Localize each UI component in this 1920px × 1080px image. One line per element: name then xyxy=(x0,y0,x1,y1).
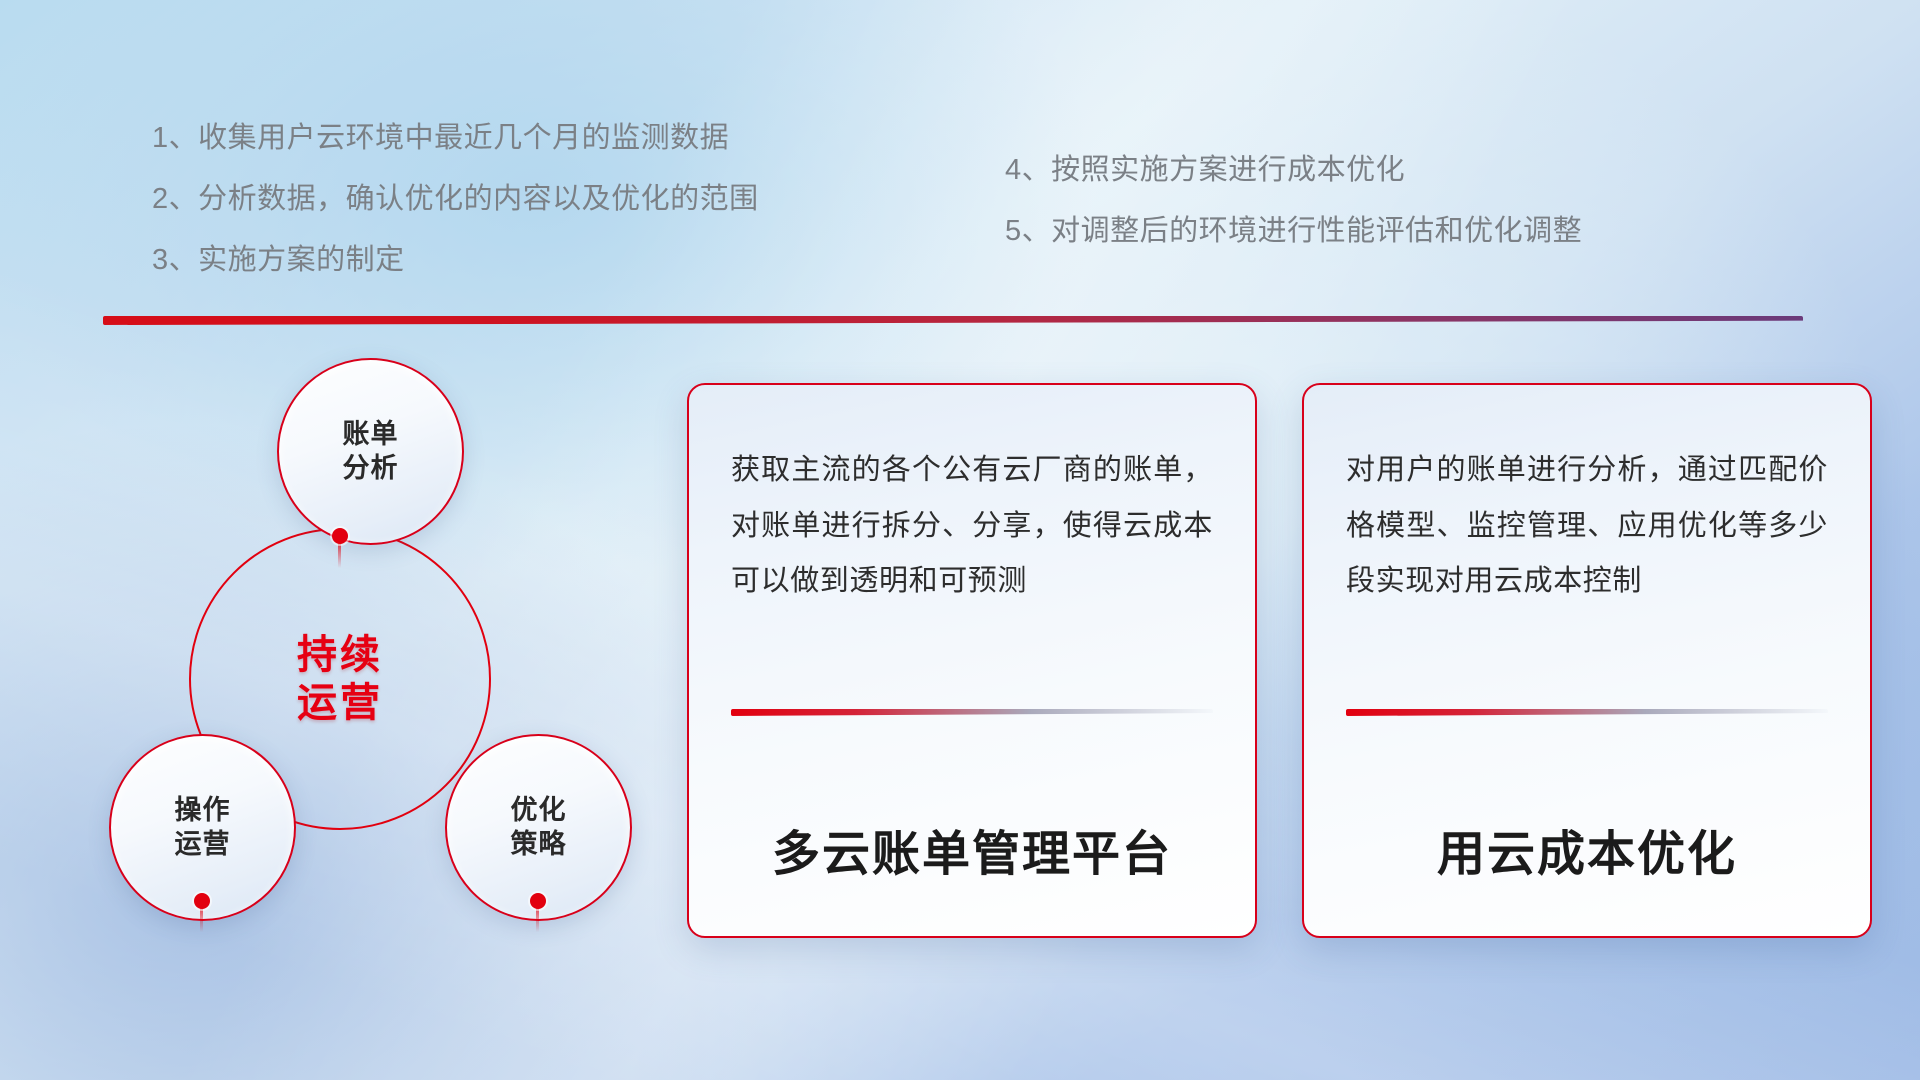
node-tail-right xyxy=(536,906,539,932)
venn-node-top-line2: 分析 xyxy=(343,453,399,483)
card-1-title: 多云账单管理平台 xyxy=(731,814,1213,884)
card-2-rule xyxy=(1346,709,1828,716)
step-item-4: 4、按照实施方案进行成本优化 xyxy=(1005,156,1582,185)
section-divider xyxy=(103,316,1803,325)
venn-node-right-line2: 策略 xyxy=(511,829,567,859)
divider-bar xyxy=(103,316,1803,325)
node-dot-left xyxy=(194,893,210,909)
node-tail-top xyxy=(338,542,341,568)
steps-section: 1、收集用户云环境中最近几个月的监测数据 2、分析数据，确认优化的内容以及优化的… xyxy=(0,108,1920,308)
step-item-1: 1、收集用户云环境中最近几个月的监测数据 xyxy=(152,124,759,153)
step-item-5: 5、对调整后的环境进行性能评估和优化调整 xyxy=(1005,217,1582,246)
venn-node-billing-analysis[interactable]: 账单 分析 xyxy=(277,358,464,545)
center-label-line1: 持续 xyxy=(297,633,383,677)
steps-right-column: 4、按照实施方案进行成本优化 5、对调整后的环境进行性能评估和优化调整 xyxy=(1005,156,1582,246)
venn-node-right-line1: 优化 xyxy=(511,795,567,825)
node-dot-top xyxy=(332,528,348,544)
step-item-2: 2、分析数据，确认优化的内容以及优化的范围 xyxy=(152,185,759,214)
steps-left-column: 1、收集用户云环境中最近几个月的监测数据 2、分析数据，确认优化的内容以及优化的… xyxy=(152,124,759,275)
card-multi-cloud-billing-platform[interactable]: 获取主流的各个公有云厂商的账单，对账单进行拆分、分享，使得云成本可以做到透明和可… xyxy=(687,383,1257,938)
venn-diagram: 持续 运营 账单 分析 操作 运营 优化 策略 xyxy=(96,350,616,950)
venn-node-top-line1: 账单 xyxy=(343,419,399,449)
card-1-rule xyxy=(731,709,1213,716)
step-item-3: 3、实施方案的制定 xyxy=(152,246,759,275)
slide-root: 1、收集用户云环境中最近几个月的监测数据 2、分析数据，确认优化的内容以及优化的… xyxy=(0,0,1920,1080)
card-2-body: 对用户的账单进行分析，通过匹配价格模型、监控管理、应用优化等多少段实现对用云成本… xyxy=(1346,443,1828,679)
node-tail-left xyxy=(200,906,203,932)
node-dot-right xyxy=(530,893,546,909)
card-2-title: 用云成本优化 xyxy=(1346,814,1828,884)
venn-node-left-line1: 操作 xyxy=(175,795,231,825)
card-1-body: 获取主流的各个公有云厂商的账单，对账单进行拆分、分享，使得云成本可以做到透明和可… xyxy=(731,443,1213,679)
venn-node-left-line2: 运营 xyxy=(175,829,231,859)
center-label-line2: 运营 xyxy=(297,681,383,725)
card-cloud-cost-optimization[interactable]: 对用户的账单进行分析，通过匹配价格模型、监控管理、应用优化等多少段实现对用云成本… xyxy=(1302,383,1872,938)
